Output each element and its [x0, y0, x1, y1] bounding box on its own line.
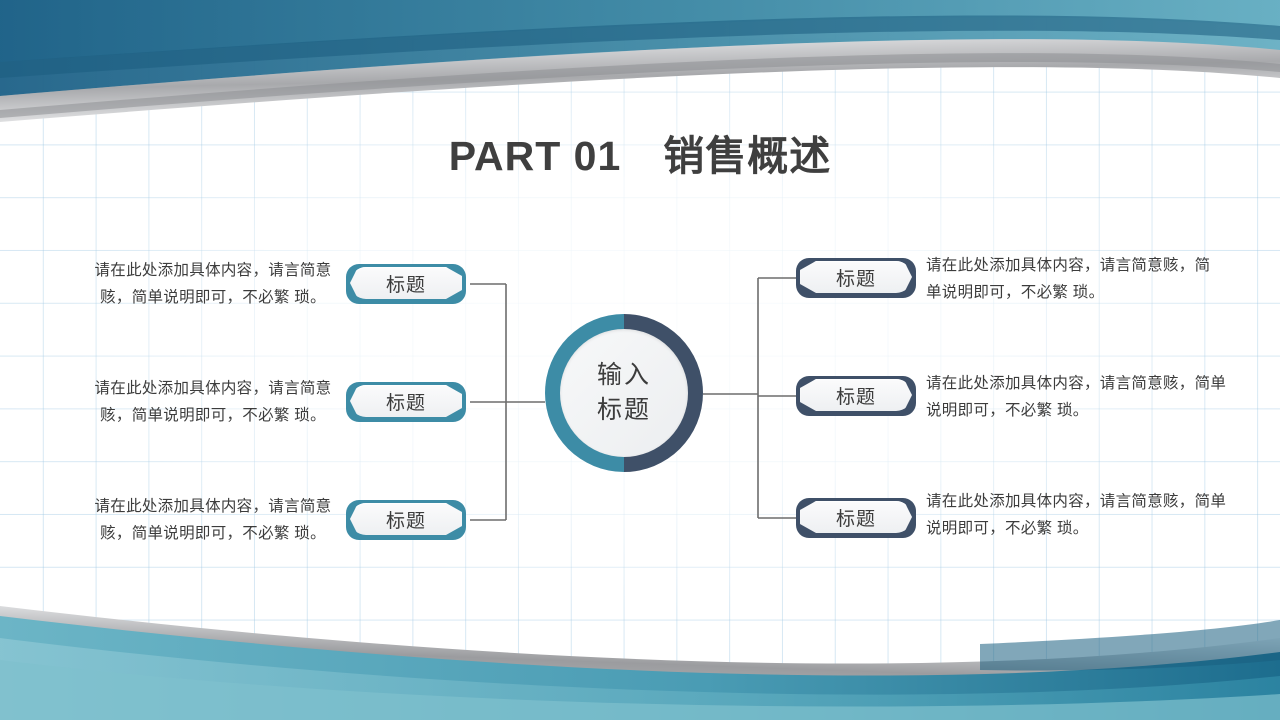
right-label-text-1: 标题 — [800, 261, 912, 293]
left-label-text-3: 标题 — [350, 503, 462, 535]
left-label-pill-2[interactable]: 标题 — [346, 382, 466, 422]
slide-canvas: PART 01 销售概述 输入 标题 标题 请在此处添加具体内容， — [0, 0, 1280, 720]
left-body-text-2: 请在此处添加具体内容，请言简意 赅，简单说明即可，不必繁 琐。 — [84, 376, 342, 429]
center-node[interactable]: 输入 标题 — [545, 314, 703, 472]
right-body-text-2: 请在此处添加具体内容，请言简意赅，简单 说明即可，不必繁 琐。 — [926, 371, 1256, 424]
right-label-text-2: 标题 — [800, 379, 912, 411]
center-node-line1: 输入 — [597, 358, 651, 394]
right-body-text-3: 请在此处添加具体内容，请言简意赅，简单 说明即可，不必繁 琐。 — [926, 489, 1256, 542]
center-node-inner: 输入 标题 — [560, 329, 688, 457]
left-label-text-1: 标题 — [350, 267, 462, 299]
center-node-line2: 标题 — [597, 393, 651, 429]
right-label-pill-3[interactable]: 标题 — [796, 498, 916, 538]
left-body-text-3: 请在此处添加具体内容，请言简意 赅，简单说明即可，不必繁 琐。 — [84, 494, 342, 547]
page-title: PART 01 销售概述 — [0, 122, 1280, 182]
right-label-pill-1[interactable]: 标题 — [796, 258, 916, 298]
left-label-pill-1[interactable]: 标题 — [346, 264, 466, 304]
right-label-text-3: 标题 — [800, 501, 912, 533]
left-label-pill-3[interactable]: 标题 — [346, 500, 466, 540]
right-label-pill-2[interactable]: 标题 — [796, 376, 916, 416]
left-label-text-2: 标题 — [350, 385, 462, 417]
left-body-text-1: 请在此处添加具体内容，请言简意 赅，简单说明即可，不必繁 琐。 — [84, 258, 342, 311]
right-body-text-1: 请在此处添加具体内容，请言简意赅，简 单说明即可，不必繁 琐。 — [926, 253, 1256, 306]
